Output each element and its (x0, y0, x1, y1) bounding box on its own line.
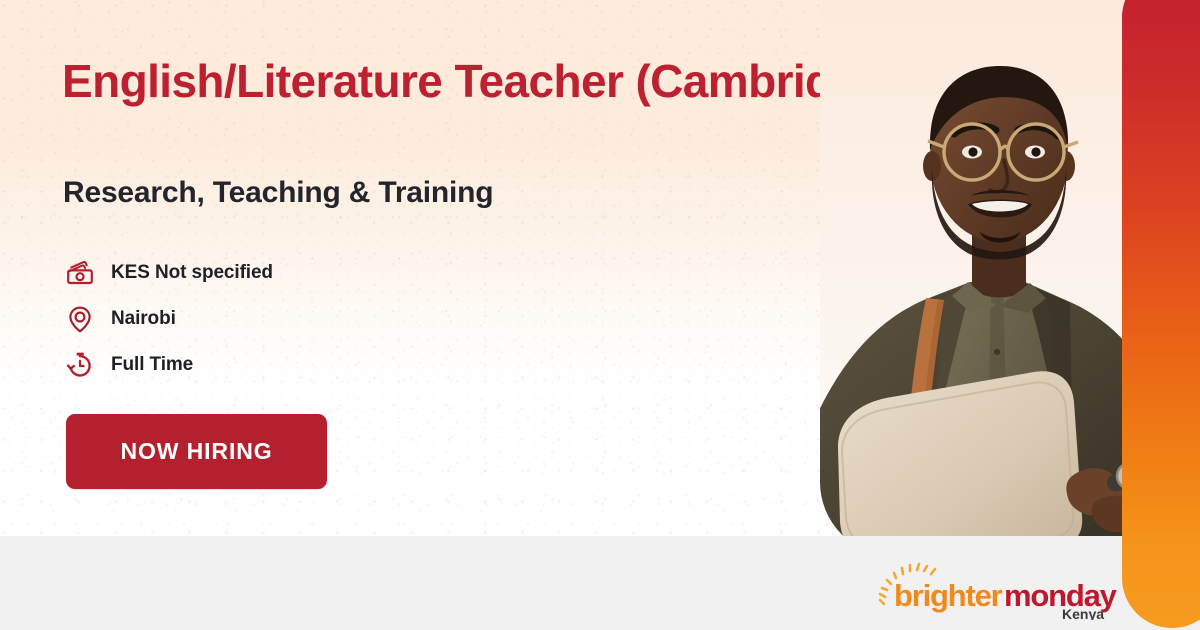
brightermonday-logo[interactable]: brighter monday Kenya (876, 558, 1126, 620)
meta-label-location: Nairobi (111, 308, 176, 330)
meta-row-salary: KES Not specified (63, 250, 273, 296)
meta-label-salary: KES Not specified (111, 262, 273, 284)
job-ad-banner: English/Literature Teacher (Cambridge IG… (0, 0, 1200, 630)
job-category: Research, Teaching & Training (63, 176, 493, 210)
stopwatch-icon (63, 348, 97, 382)
accent-gradient-bar-overlay (1122, 0, 1200, 628)
meta-row-location: Nairobi (63, 296, 273, 342)
meta-row-job-type: Full Time (63, 342, 273, 388)
candidate-photo (820, 0, 1155, 536)
cash-icon (63, 256, 97, 290)
location-pin-icon (63, 302, 97, 336)
banner-card: English/Literature Teacher (Cambridge IG… (0, 0, 1200, 536)
now-hiring-button[interactable]: NOW HIRING (66, 414, 327, 489)
logo-country: Kenya (1062, 606, 1104, 620)
job-meta-list: KES Not specified Nairobi (63, 250, 273, 388)
logo-word-brighter: brighter (894, 578, 1003, 613)
meta-label-job-type: Full Time (111, 354, 193, 376)
